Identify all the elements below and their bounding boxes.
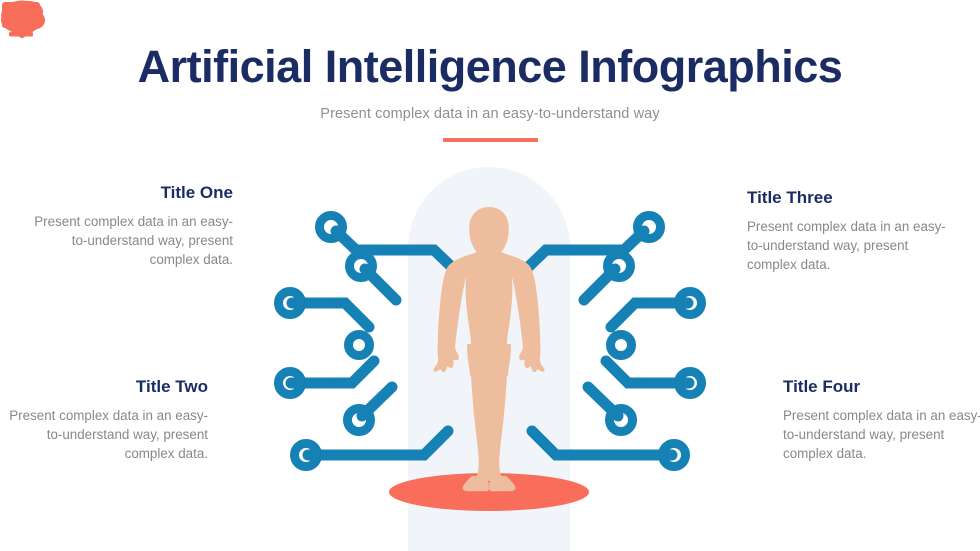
feature-block-four: Title Four Present complex data in an ea… <box>783 377 980 463</box>
feature-block-three: Title Three Present complex data in an e… <box>747 188 952 274</box>
feature-title-four: Title Four <box>783 377 980 397</box>
circuit-nodes-left <box>279 216 373 467</box>
feature-body-two: Present complex data in an easy-to-under… <box>3 406 208 463</box>
cloud-icon <box>0 0 46 35</box>
feature-body-four: Present complex data in an easy-to-under… <box>783 406 980 463</box>
feature-body-three: Present complex data in an easy-to-under… <box>747 217 952 274</box>
feature-block-two: Title Two Present complex data in an eas… <box>3 377 208 463</box>
circuit-nodes-right <box>608 216 702 467</box>
feature-title-two: Title Two <box>3 377 208 397</box>
feature-block-one: Title One Present complex data in an eas… <box>28 183 233 269</box>
feature-title-one: Title One <box>28 183 233 203</box>
central-illustration <box>0 0 980 551</box>
feature-title-three: Title Three <box>747 188 952 208</box>
slide-canvas: Artificial Intelligence Infographics Pre… <box>0 0 980 551</box>
feature-body-one: Present complex data in an easy-to-under… <box>28 212 233 269</box>
